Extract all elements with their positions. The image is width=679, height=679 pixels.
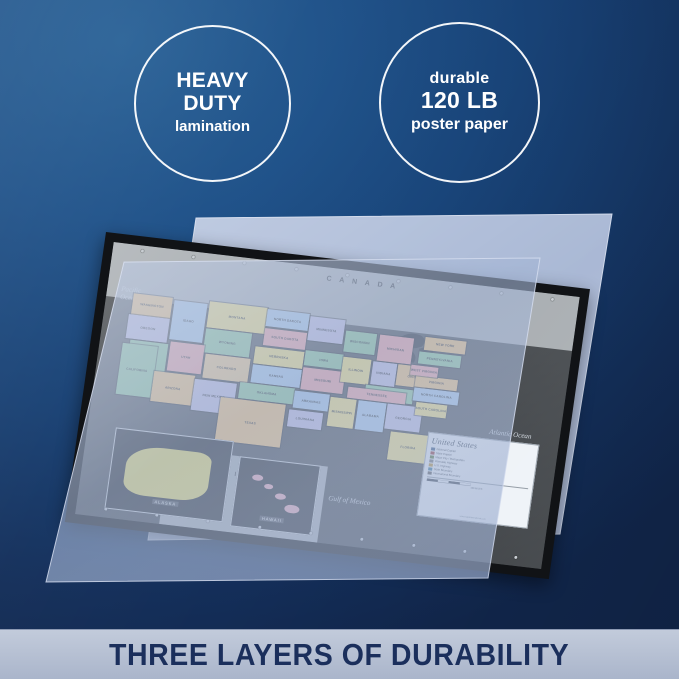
- front-lamination-sheet: [0, 0, 679, 679]
- banner-text: THREE LAYERS OF DURABILITY: [109, 637, 569, 673]
- product-feature-image: HEAVY DUTY lamination durable 120 LB pos…: [0, 0, 679, 679]
- bottom-banner: THREE LAYERS OF DURABILITY: [0, 629, 679, 679]
